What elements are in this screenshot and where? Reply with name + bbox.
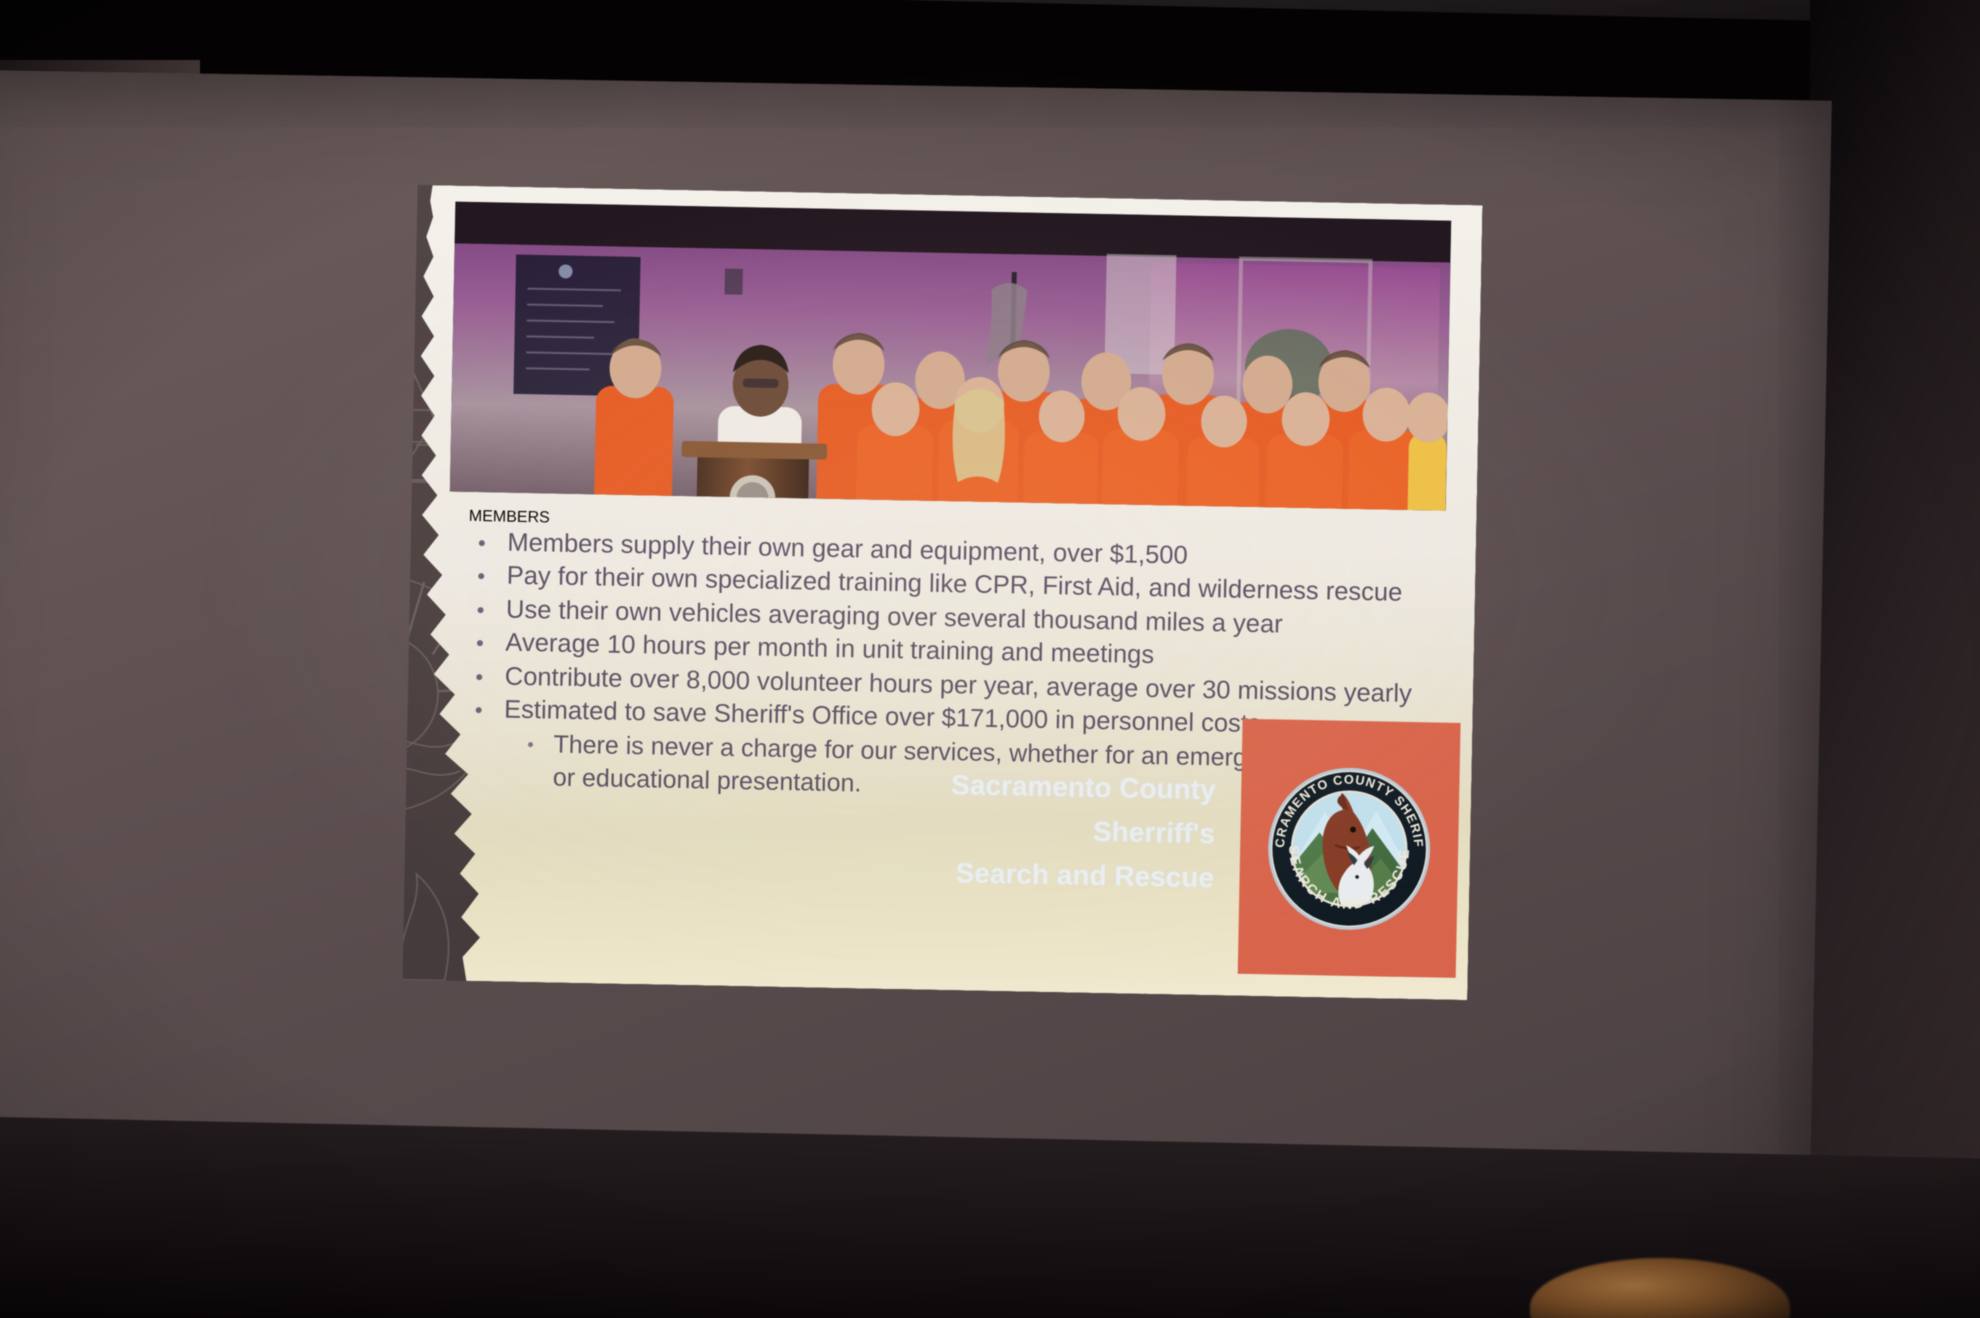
projection-room: MEMBERS Members supply their own gear an…	[0, 0, 1980, 1318]
team-photo	[450, 201, 1451, 510]
bullet-dot-icon	[478, 540, 484, 546]
bullet-dot-icon	[475, 707, 481, 713]
bullet-dot-icon	[478, 573, 484, 579]
org-name-line-1: Sacramento County	[951, 764, 1216, 813]
wall-right	[1810, 0, 1980, 1318]
org-name-line-2: Sherriff's	[950, 807, 1215, 856]
team-photo-image	[450, 201, 1451, 510]
bullet-dot-icon	[477, 607, 483, 613]
organization-name-watermark: Sacramento County Sherriff's Search and …	[949, 764, 1216, 900]
sub-bullet-dot-icon	[527, 742, 532, 747]
members-bullet-list: Members supply their own gear and equipm…	[465, 526, 1427, 745]
bullet-dot-icon	[476, 674, 482, 680]
sheriff-sar-badge-icon: SACRAMENTO COUNTY SHERIFF'S SEARCH AND R…	[1260, 759, 1439, 938]
bullet-dot-icon	[476, 640, 482, 646]
org-name-line-3: Search and Rescue	[949, 851, 1214, 900]
badge-panel: SACRAMENTO COUNTY SHERIFF'S SEARCH AND R…	[1238, 719, 1461, 978]
presentation-slide: MEMBERS Members supply their own gear an…	[402, 185, 1482, 1000]
